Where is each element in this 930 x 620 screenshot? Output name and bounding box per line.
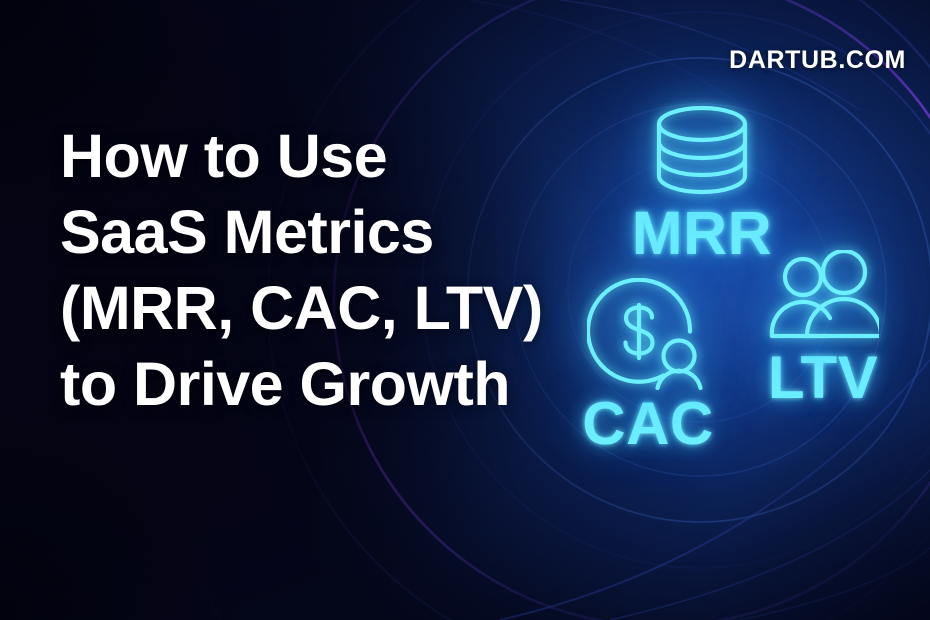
- dollar-circle-person-icon: [587, 278, 709, 390]
- metric-ltv-label: LTV: [758, 348, 888, 408]
- metric-ltv: LTV: [758, 250, 888, 408]
- page-title: How to Use SaaS Metrics (MRR, CAC, LTV) …: [60, 118, 510, 422]
- watermark-brand: DARTUB.COM: [729, 46, 906, 75]
- title-line-4: to Drive Growth: [60, 346, 510, 422]
- metric-cac-label: CAC: [568, 394, 728, 454]
- title-line-3: (MRR, CAC, LTV): [60, 270, 510, 346]
- title-line-2: SaaS Metrics: [60, 194, 510, 270]
- title-line-1: How to Use: [60, 118, 510, 194]
- saas-metrics-banner: DARTUB.COM How to Use SaaS Metrics (MRR,…: [0, 0, 930, 620]
- two-people-icon: [767, 250, 879, 346]
- database-cylinder-icon: [652, 104, 752, 196]
- metric-cac: CAC: [568, 278, 728, 454]
- metric-mrr: MRR: [612, 104, 792, 264]
